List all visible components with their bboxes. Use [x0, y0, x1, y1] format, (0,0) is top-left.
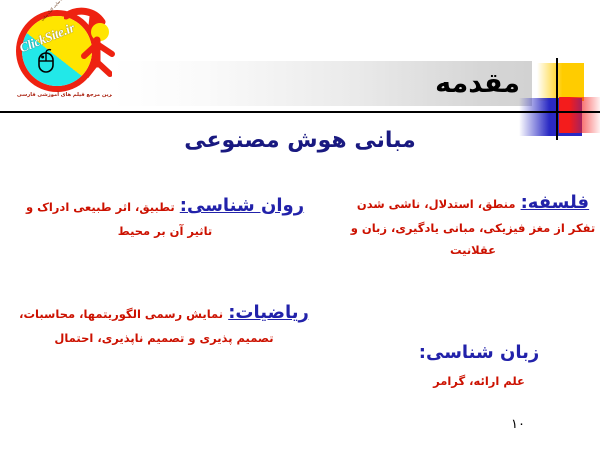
content-block-mathematics: ریاضیات: نمایش رسمی الگوریتمها، محاسبات،…	[14, 300, 314, 348]
page-title: مقدمه	[112, 61, 520, 106]
block-heading-psychology: روان شناسی:	[180, 195, 304, 216]
block-heading-linguistics: زبان شناسی:	[419, 342, 539, 363]
content-block-psychology: روان شناسی: تطبیق، اثر طبیعی ادراک و تاث…	[20, 193, 310, 241]
block-body-linguistics: علم ارائه، گرامر	[360, 373, 598, 389]
content-block-philosophy: فلسفه: منطق، استدلال، ناشی شدن تفکر از م…	[348, 190, 598, 261]
deco-yellow-square	[537, 63, 584, 101]
block-heading-philosophy: فلسفه:	[521, 192, 590, 213]
deco-horizontal-line	[0, 111, 600, 113]
slide-subtitle: مبانی هوش مصنوعی	[0, 128, 600, 153]
presentation-slide: ویژه سایت کلیک سایت ClickSite.ir بزرگتری…	[0, 0, 600, 458]
page-number: ۱۰	[498, 417, 538, 432]
content-block-linguistics: زبان شناسی: علم ارائه، گرامر	[360, 340, 598, 389]
computer-mouse-icon	[36, 48, 56, 74]
block-heading-mathematics: ریاضیات:	[228, 302, 309, 323]
